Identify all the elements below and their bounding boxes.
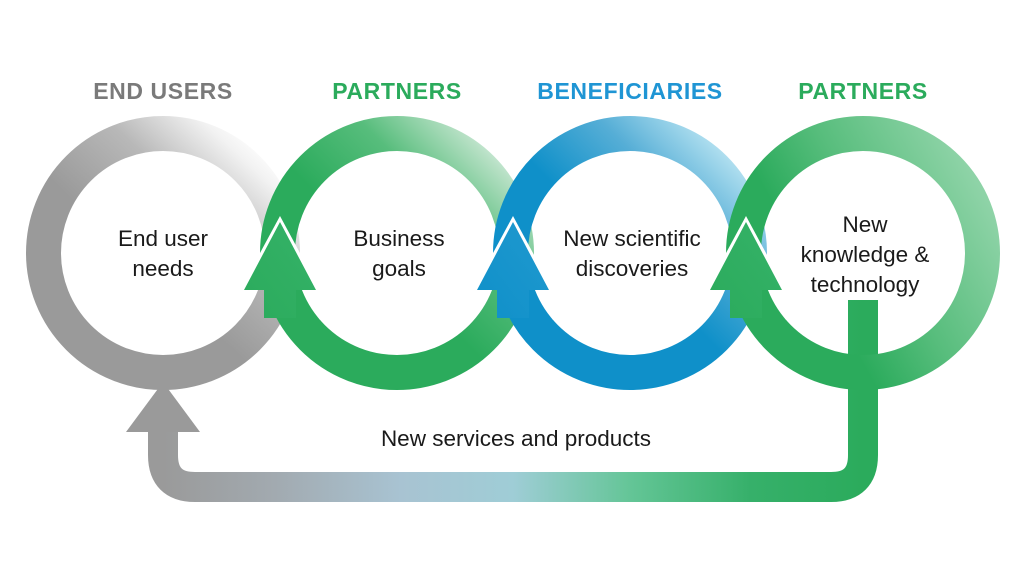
ring-end-user-needs: [44, 134, 283, 373]
node-label-new-scientific-discoveries-line1: New scientific: [563, 226, 701, 251]
node-label-end-user-needs-line1: End user: [118, 226, 209, 251]
node-label-business-goals-line2: goals: [372, 256, 426, 281]
node-label-new-knowledge-technology-line1: New: [842, 212, 888, 237]
feedback-loop-label: New services and products: [381, 426, 651, 451]
node-label-end-user-needs-line2: needs: [132, 256, 193, 281]
category-label-beneficiaries: BENEFICIARIES: [537, 78, 722, 104]
node-end-user-needs[interactable]: End user needs: [44, 134, 283, 373]
innovation-cycle-diagram: End user needs Business goals New scient…: [0, 0, 1024, 576]
node-label-business-goals-line1: Business: [353, 226, 444, 251]
category-label-partners-1: PARTNERS: [332, 78, 462, 104]
diagram-canvas: End user needs Business goals New scient…: [0, 0, 1024, 576]
ring-new-scientific-discoveries: [511, 134, 750, 373]
node-label-new-knowledge-technology-line2: knowledge &: [801, 242, 930, 267]
node-label-new-scientific-discoveries-line2: discoveries: [576, 256, 689, 281]
node-new-scientific-discoveries[interactable]: New scientific discoveries: [511, 134, 750, 373]
node-business-goals[interactable]: Business goals: [278, 134, 517, 373]
category-labels: END USERS PARTNERS BENEFICIARIES PARTNER…: [93, 78, 928, 104]
category-label-partners-2: PARTNERS: [798, 78, 928, 104]
node-label-new-knowledge-technology-line3: technology: [811, 272, 921, 297]
ring-business-goals: [278, 134, 517, 373]
feedback-loop-label-group: New services and products: [345, 420, 687, 454]
category-label-end-users: END USERS: [93, 78, 233, 104]
